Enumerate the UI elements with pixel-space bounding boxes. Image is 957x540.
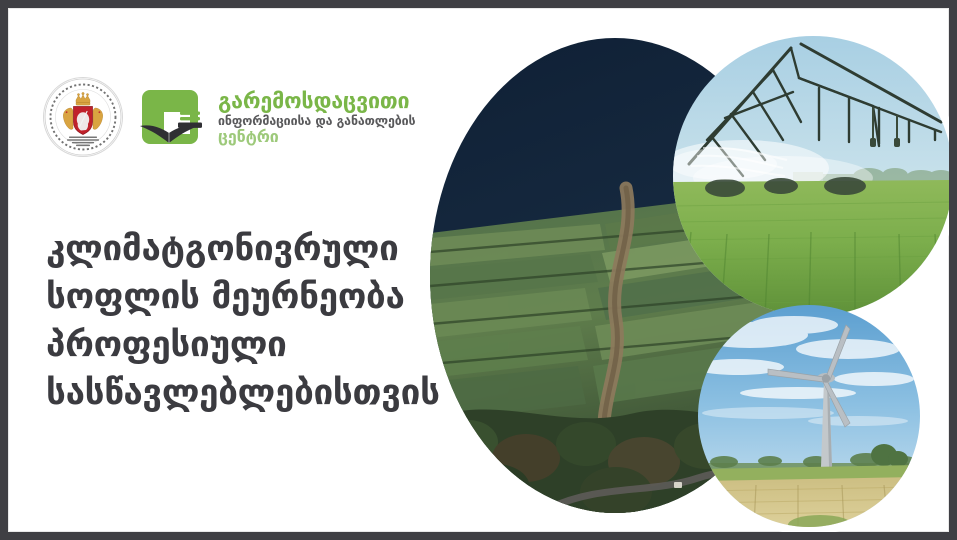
headline-line-3: პროფესიული [46, 322, 476, 370]
headline-line-2: სოფლის მეურნეობა [46, 274, 476, 322]
photo-wind-turbine-field [698, 305, 920, 527]
eiec-logo-wordmark: გარემოსდაცვითი ინფორმაციისა და განათლები… [218, 89, 416, 146]
poster-headline: კლიმატგონივრული სოფლის მეურნეობა პროფესი… [46, 226, 476, 418]
headline-line-1: კლიმატგონივრული [46, 226, 476, 274]
eiec-logo-mark-icon [138, 86, 202, 148]
headline-line-4: სასწავლებლებისთვის [46, 370, 476, 418]
poster-canvas: გარემოსდაცვითი ინფორმაციისა და განათლები… [8, 8, 949, 532]
logo-line-3: ცენტრი [218, 129, 416, 145]
logo-line-2: ინფორმაციისა და განათლების [218, 115, 416, 127]
georgian-ministry-seal-icon [44, 78, 122, 156]
branding-row: გარემოსდაცვითი ინფორმაციისა და განათლები… [44, 78, 416, 156]
logo-line-1: გარემოსდაცვითი [218, 91, 416, 113]
photo-center-pivot-irrigation [673, 36, 949, 316]
poster-frame: გარემოსდაცვითი ინფორმაციისა და განათლები… [0, 0, 957, 540]
